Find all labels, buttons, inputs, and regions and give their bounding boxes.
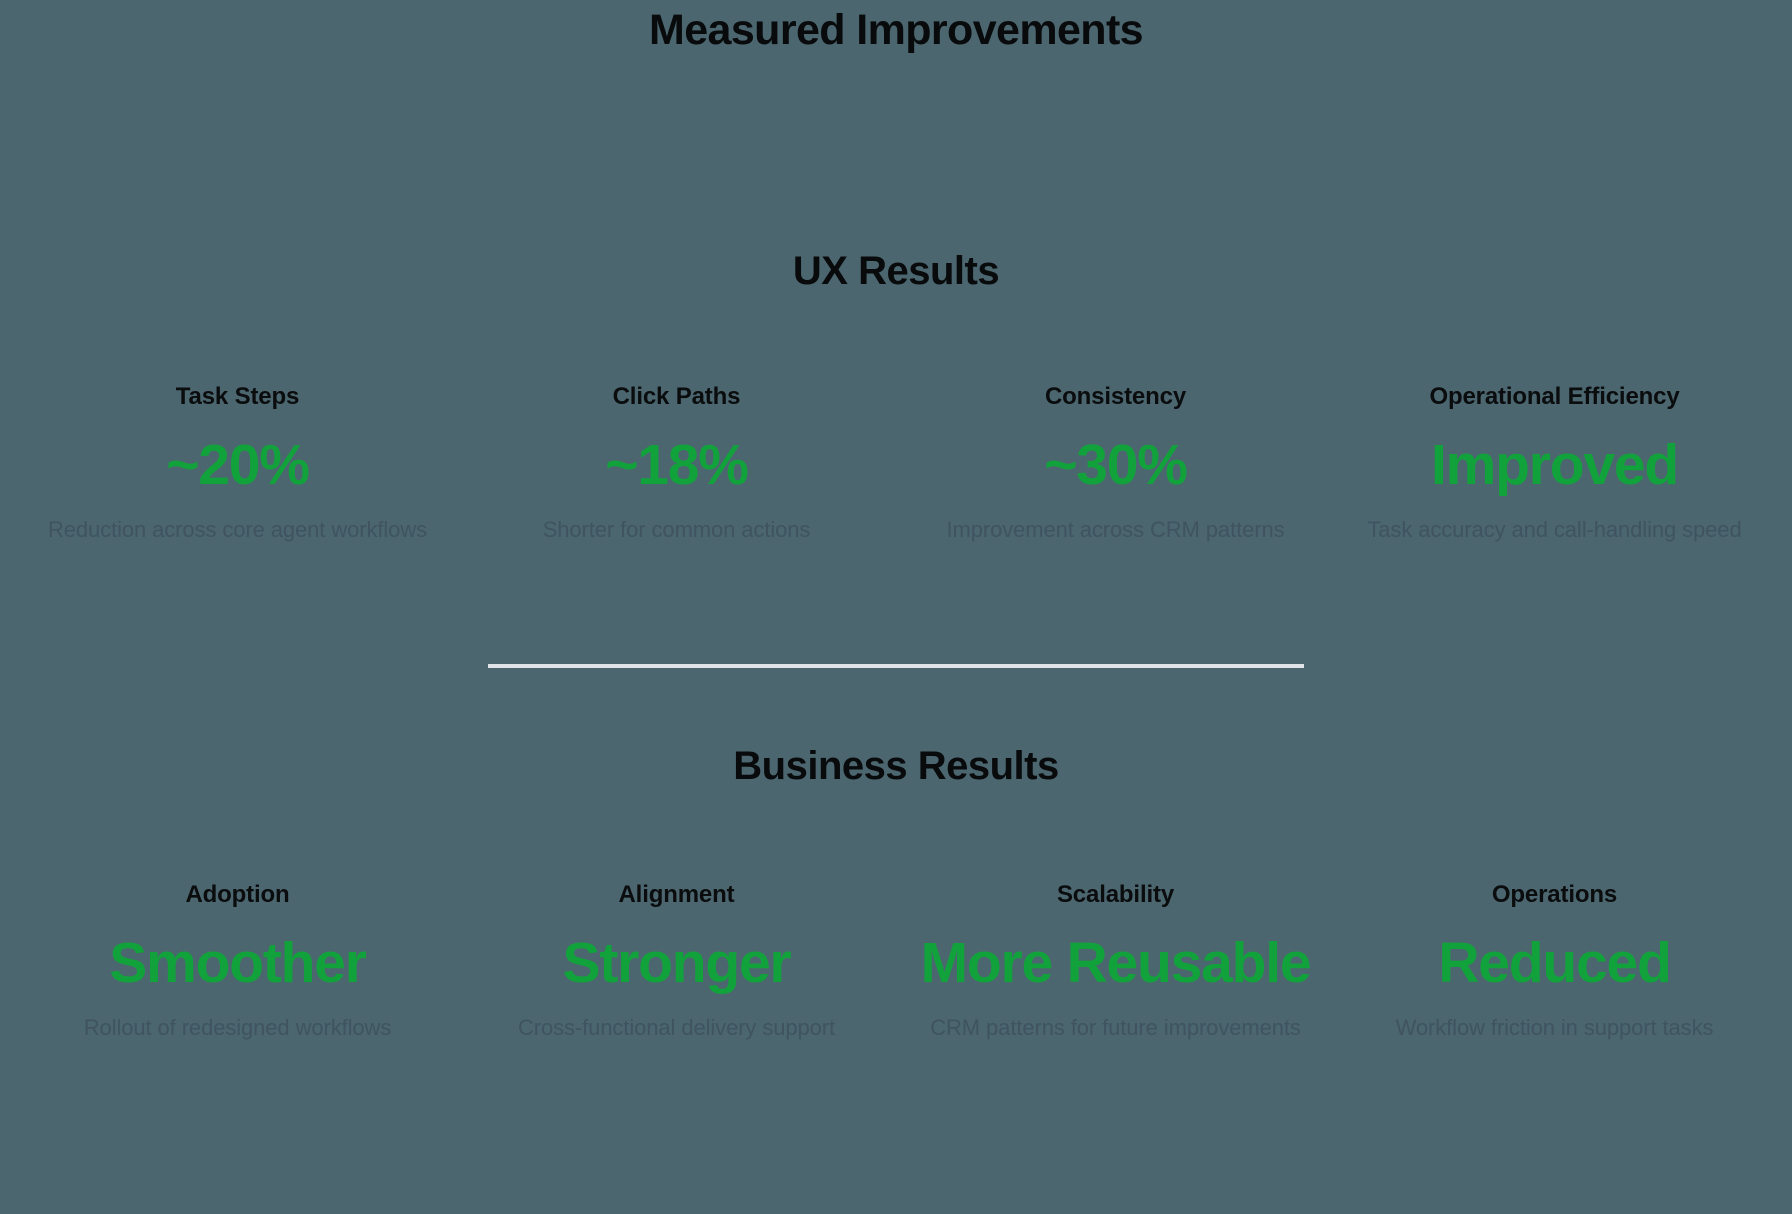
metric-value: Stronger: [467, 930, 886, 997]
metric-description: Workflow friction in support tasks: [1345, 1013, 1764, 1042]
page-title: Measured Improvements: [0, 4, 1792, 58]
metric-value: More Reusable: [906, 930, 1325, 997]
business-results-heading: Business Results: [0, 742, 1792, 790]
results-slide: Measured Improvements UX Results Task St…: [0, 0, 1792, 1214]
metric-consistency: Consistency ~30% Improvement across CRM …: [896, 382, 1335, 544]
metric-description: Cross-functional delivery support: [467, 1013, 886, 1042]
metric-label: Scalability: [906, 880, 1325, 910]
metric-label: Adoption: [28, 880, 447, 910]
section-divider: [488, 664, 1304, 668]
metric-value: ~20%: [28, 432, 447, 499]
metric-description: Reduction across core agent workflows: [28, 515, 447, 544]
metric-label: Click Paths: [467, 382, 886, 412]
metric-scalability: Scalability More Reusable CRM patterns f…: [896, 880, 1335, 1042]
metric-label: Task Steps: [28, 382, 447, 412]
metric-value: ~30%: [906, 432, 1325, 499]
business-results-metrics: Adoption Smoother Rollout of redesigned …: [0, 880, 1792, 1042]
metric-label: Operational Efficiency: [1345, 382, 1764, 412]
metric-description: Shorter for common actions: [467, 515, 886, 544]
metric-description: Task accuracy and call-handling speed: [1345, 515, 1764, 544]
metric-alignment: Alignment Stronger Cross-functional deli…: [457, 880, 896, 1042]
metric-value: Smoother: [28, 930, 447, 997]
metric-operational-efficiency: Operational Efficiency Improved Task acc…: [1335, 382, 1774, 544]
metric-click-paths: Click Paths ~18% Shorter for common acti…: [457, 382, 896, 544]
metric-value: Reduced: [1345, 930, 1764, 997]
ux-results-metrics: Task Steps ~20% Reduction across core ag…: [0, 382, 1792, 544]
metric-value: ~18%: [467, 432, 886, 499]
metric-label: Consistency: [906, 382, 1325, 412]
metric-description: Improvement across CRM patterns: [906, 515, 1325, 544]
metric-label: Alignment: [467, 880, 886, 910]
metric-value: Improved: [1345, 432, 1764, 499]
metric-task-steps: Task Steps ~20% Reduction across core ag…: [18, 382, 457, 544]
ux-results-heading: UX Results: [0, 247, 1792, 295]
metric-description: CRM patterns for future improvements: [906, 1013, 1325, 1042]
metric-label: Operations: [1345, 880, 1764, 910]
metric-adoption: Adoption Smoother Rollout of redesigned …: [18, 880, 457, 1042]
metric-description: Rollout of redesigned workflows: [28, 1013, 447, 1042]
metric-operations: Operations Reduced Workflow friction in …: [1335, 880, 1774, 1042]
